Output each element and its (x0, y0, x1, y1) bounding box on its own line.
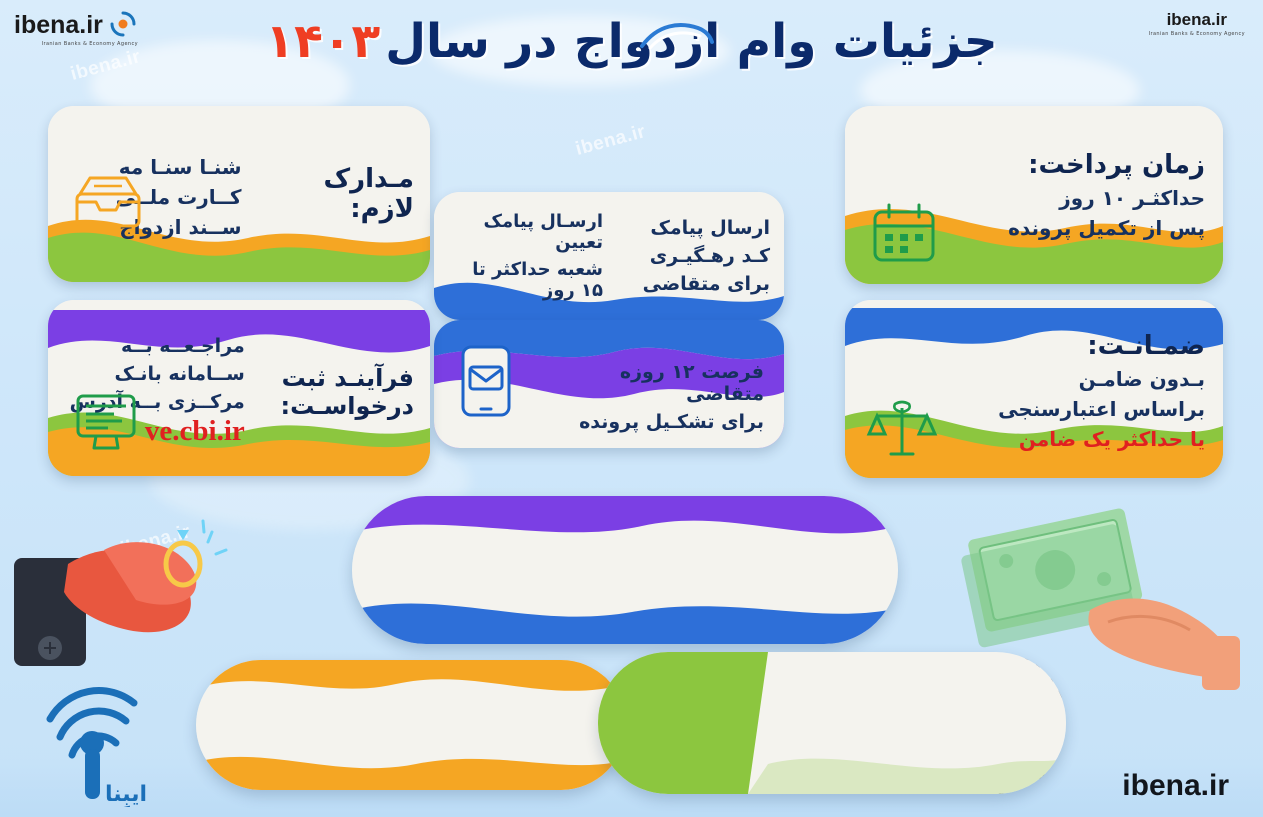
card-loan-amount[interactable]: مبلـغ وام بـرای هـر فـرد آقـا زیـر ۲۵ سا… (352, 496, 898, 644)
card-payment-condition-wave (598, 652, 1066, 794)
card-payment-time[interactable]: زمان پرداخت: حداکثـر ۱۰ روز پس از تکمیل … (845, 106, 1223, 284)
card-repayment[interactable]: دوره بـازپرداخت ۱۰ سالـه نـرخ سـود ۴ درص… (196, 660, 626, 790)
card-sms-tracking-left-1: ارسـال پیامک تعیین (448, 211, 603, 253)
ibena-mark-icon (108, 10, 138, 38)
card-file-window-line-1: فرصت ۱۲ روزه متقاضی (544, 361, 764, 405)
file-box-icon (72, 172, 144, 234)
card-sms-tracking-right-3: برای متقاضی (615, 273, 770, 295)
ibena-bottom-logo: ایبِنا (30, 667, 180, 807)
card-registration-process[interactable]: فرآینـد ثبت درخواسـت: مراجـعــه بــه ســ… (48, 300, 430, 476)
logo-top-right-text: ibena.ir (1167, 10, 1227, 29)
logo-top-right-sub: Iranian Banks & Economy Agency (1149, 31, 1245, 37)
card-sms-tracking-right-1: ارسال پیامک (615, 217, 770, 239)
card-file-window-line-2: برای تشکـیل پرونده (544, 411, 764, 433)
logo-top-left: ibena.ir Iranian Banks & Economy Agency (14, 10, 138, 47)
monitor-icon (74, 392, 138, 452)
scales-icon (865, 400, 939, 458)
card-registration-process-line-1: مراجـعــه بــه (56, 335, 245, 357)
card-documents[interactable]: مـدارک لازم: شنـا سنـا مه کــارت ملــی س… (48, 106, 430, 282)
card-sms-tracking-left-2: شعبه حداکثر تا ۱۵ روز (448, 259, 603, 301)
footer-brand-text: ibena.ir (1122, 769, 1229, 802)
ibena-bottom-logo-text: ایبِنا (105, 782, 147, 807)
card-repayment-wave (196, 660, 626, 790)
title-swoosh-icon (640, 20, 714, 50)
infographic-root: ibena.ir ibena.ir ibena.ir ibena.ir iben… (0, 0, 1263, 817)
logo-top-left-text: ibena.ir (14, 11, 103, 39)
logo-top-right: ibena.ir Iranian Banks & Economy Agency (1149, 10, 1245, 37)
card-payment-time-header: زمان پرداخت: (853, 150, 1205, 180)
calendar-icon (871, 202, 937, 264)
card-registration-process-line-2: ســامانه بانـک (56, 363, 245, 385)
card-guarantee-header: ضمـانـت: (853, 331, 1205, 361)
card-guarantee[interactable]: ضمـانـت: بـدون ضامـن براساس اعتبارسنجی ی… (845, 300, 1223, 478)
card-sms-tracking-right-2: کـد رهـگیـری (615, 245, 770, 267)
card-sms-tracking[interactable]: ارسال پیامک کـد رهـگیـری برای متقاضی ارس… (434, 192, 784, 320)
card-loan-amount-wave (352, 496, 898, 644)
card-file-window[interactable]: فرصت ۱۲ روزه متقاضی برای تشکـیل پرونده (434, 320, 784, 448)
footer-brand: ibena.ir (1122, 769, 1229, 803)
card-registration-process-header-1: فرآینـد ثبت درخواسـت: (269, 364, 414, 420)
logo-top-left-sub: Iranian Banks & Economy Agency (14, 41, 138, 47)
phone-message-icon (459, 343, 513, 419)
card-payment-condition[interactable]: شـرط پـرداخـت تاریخ ازدواج بعـد از یکـم … (598, 652, 1066, 794)
card-guarantee-line-1: بـدون ضامـن (853, 367, 1205, 391)
card-documents-header: مـدارک لازم: (266, 164, 414, 224)
